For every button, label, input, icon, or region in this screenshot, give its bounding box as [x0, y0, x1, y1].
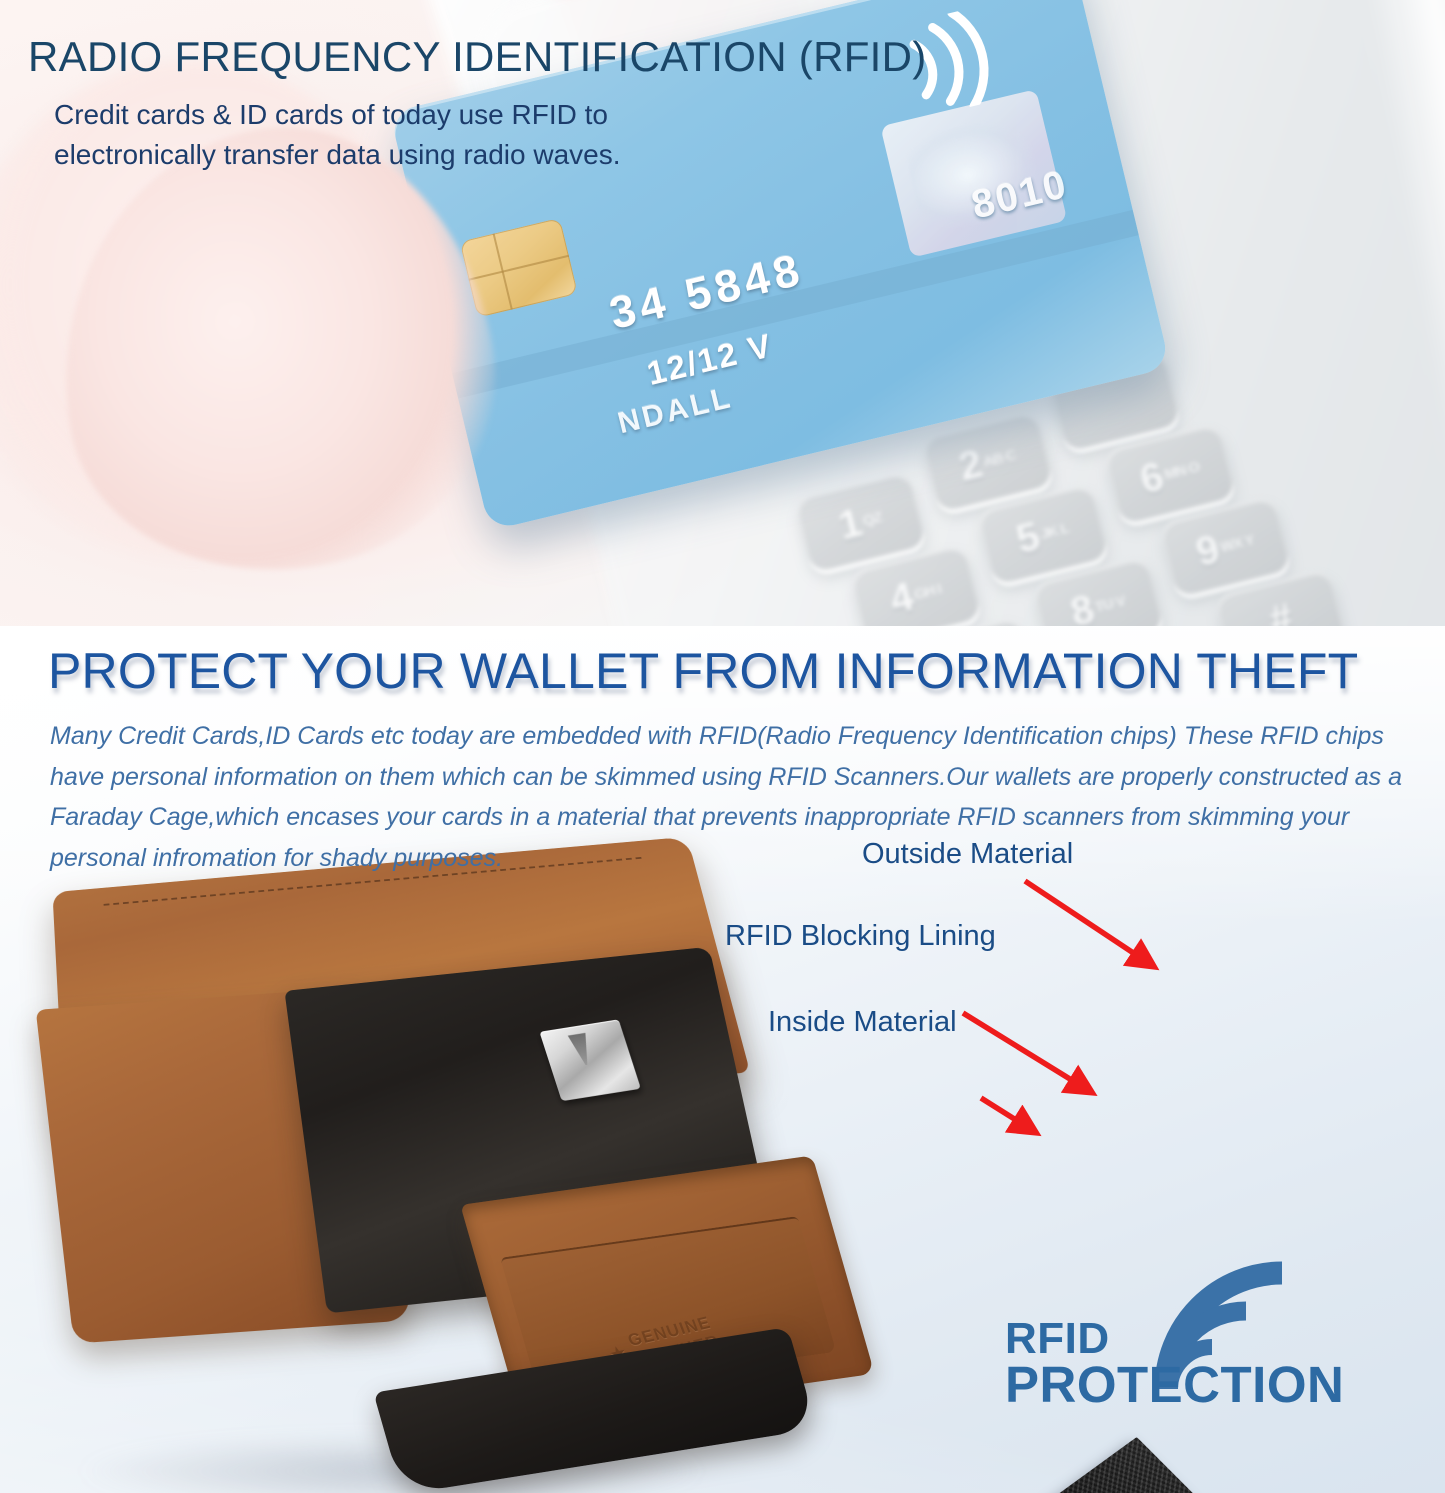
- page-title: RADIO FREQUENCY IDENTIFICATION (RFID): [28, 33, 927, 81]
- key-letters: MN O: [1163, 460, 1200, 481]
- key-letters: QZ: [862, 510, 883, 527]
- rfid-logo-line2: PROTECTION: [1005, 1360, 1344, 1410]
- card-holder-name: NDALL: [615, 381, 736, 441]
- top-subtext: Credit cards & ID cards of today use RFI…: [54, 95, 621, 175]
- section-paragraph: Many Credit Cards,ID Cards etc today are…: [50, 716, 1440, 878]
- section-title: PROTECT YOUR WALLET FROM INFORMATION THE…: [48, 642, 1358, 700]
- key-letters: GH I: [913, 582, 942, 601]
- key-number: 9: [1192, 527, 1224, 576]
- key-number: 5: [1012, 514, 1044, 563]
- key-number: 1: [834, 500, 866, 549]
- rfid-logo-text: RFID PROTECTION: [1005, 1317, 1344, 1410]
- label-rfid-blocking-lining: RFID Blocking Lining: [725, 920, 996, 953]
- key-letters: TU V: [1094, 594, 1126, 614]
- key-letters: AB C: [982, 448, 1017, 469]
- wallet-photo: ★ GENUINE LEATHER: [12, 836, 772, 1486]
- key-number: 4: [886, 574, 918, 623]
- rfid-protection-logo: RFID PROTECTION: [1005, 1255, 1385, 1425]
- rfid-logo-line1: RFID: [1005, 1317, 1344, 1360]
- key-number: 6: [1136, 454, 1168, 503]
- rfid-wallet-infographic: 1QZ 2AB C 4GH I 5JK L 6MN O 7PR S 8TU V …: [0, 0, 1445, 1493]
- key-letters: WX Y: [1219, 533, 1255, 554]
- wallet-body: ★ GENUINE LEATHER: [10, 818, 765, 1293]
- top-panel: 1QZ 2AB C 4GH I 5JK L 6MN O 7PR S 8TU V …: [0, 0, 1445, 632]
- label-inside-material: Inside Material: [768, 1006, 957, 1039]
- key-number: 2: [955, 441, 987, 490]
- label-outside-material: Outside Material: [862, 838, 1073, 871]
- key-letters: JK L: [1039, 522, 1070, 542]
